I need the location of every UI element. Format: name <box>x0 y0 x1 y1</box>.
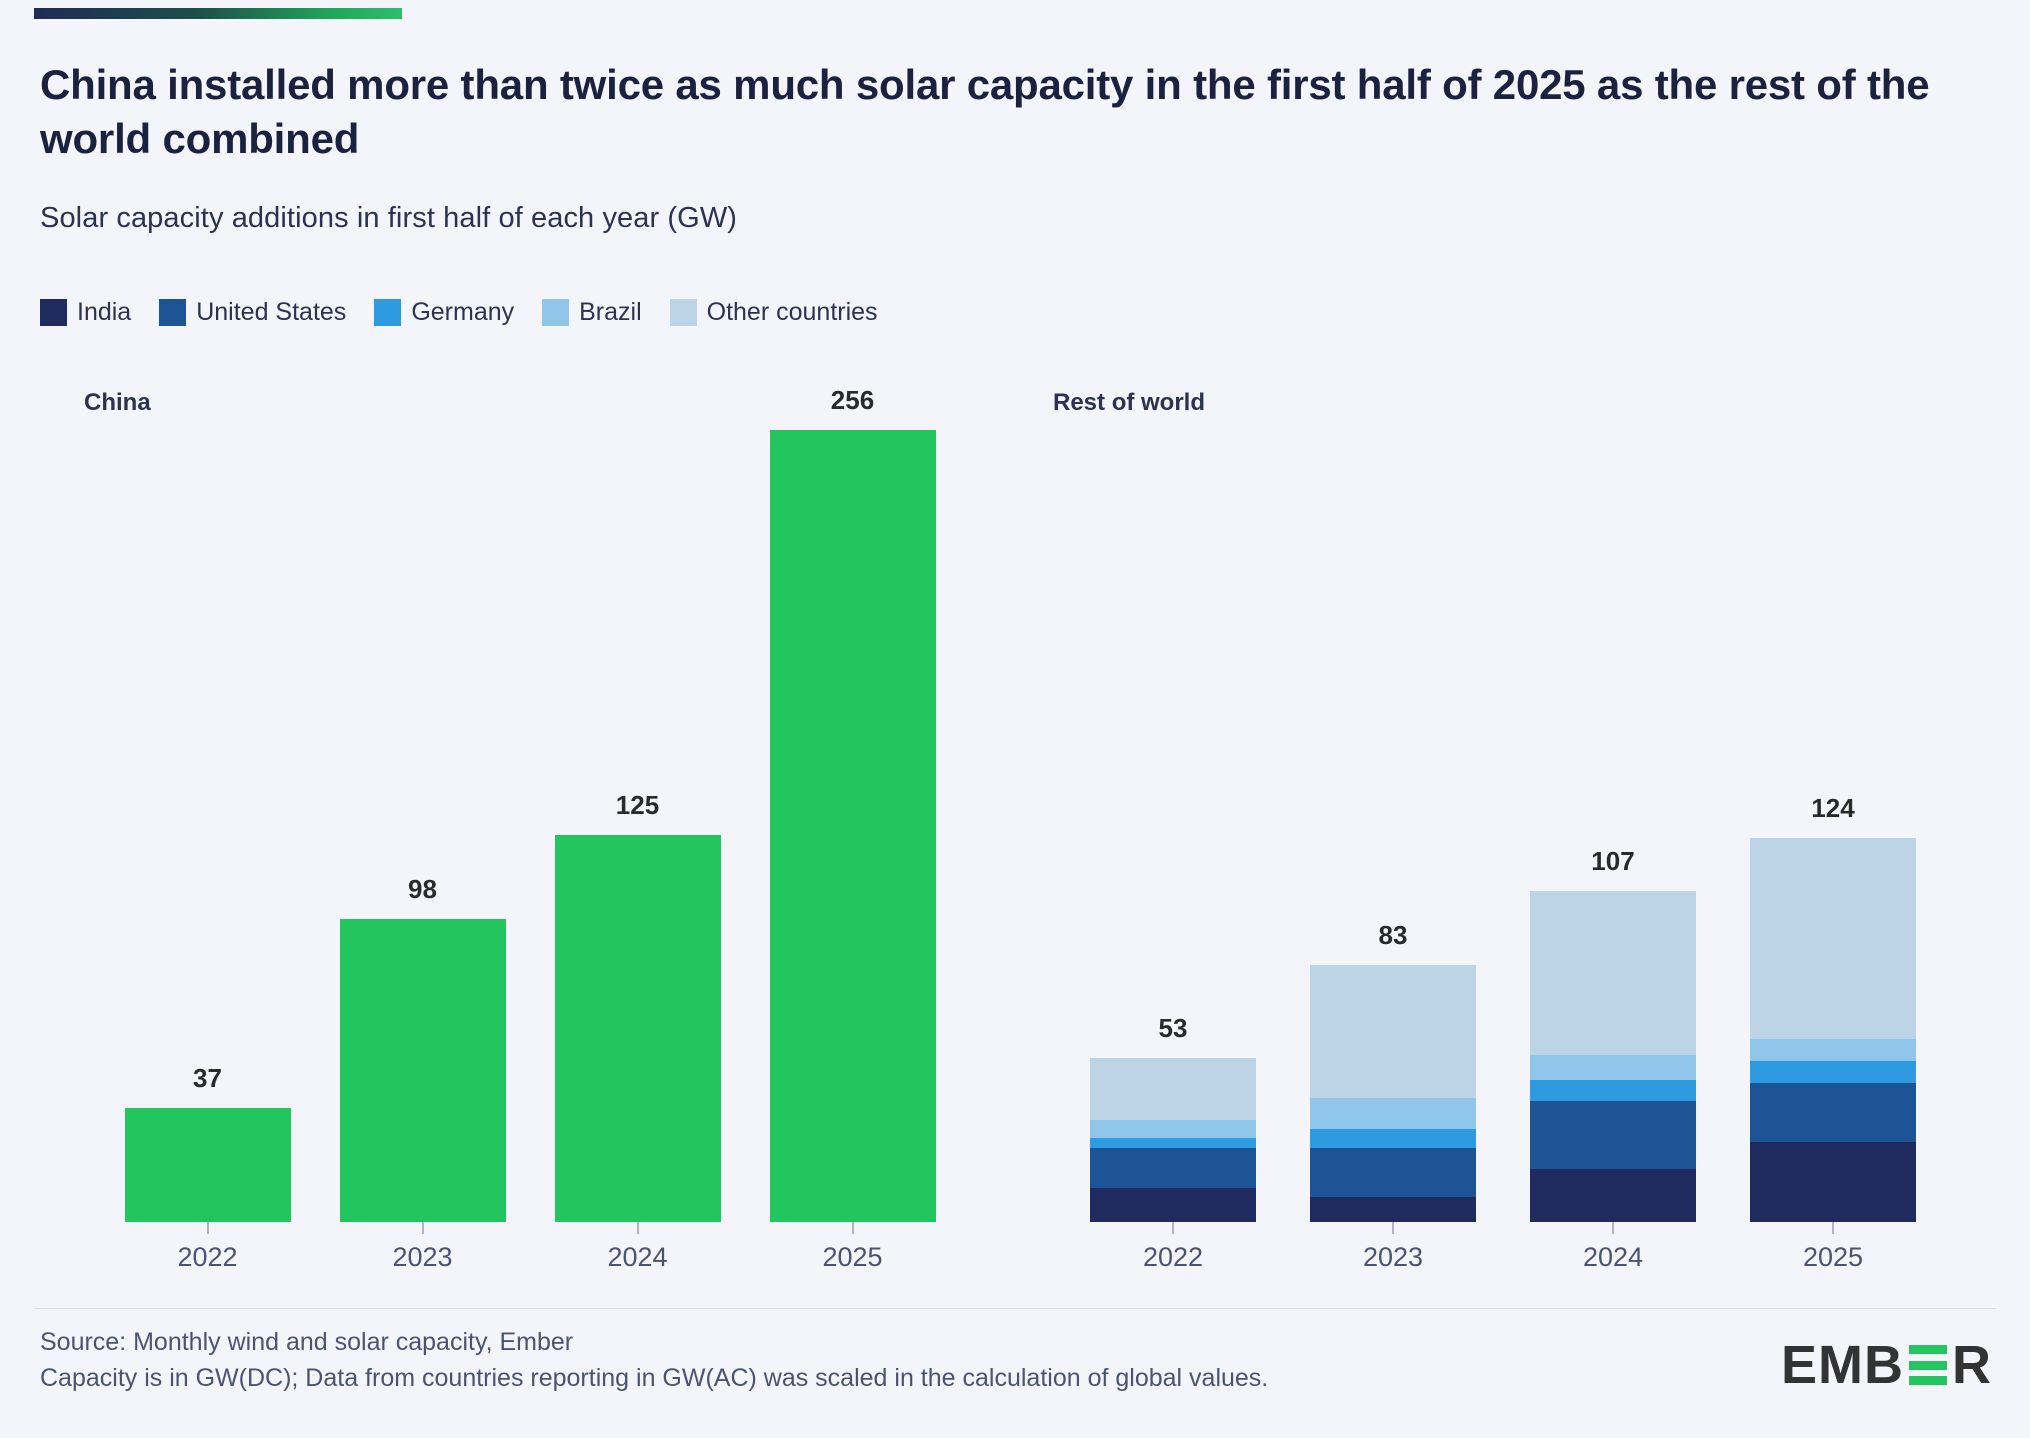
tick-label: 2024 <box>607 1242 667 1273</box>
bar-segment-india[interactable] <box>1750 1142 1916 1222</box>
bar-value-label: 124 <box>1723 793 1943 824</box>
bar-value-label: 125 <box>530 790 745 821</box>
bar-slot: 125 <box>530 430 745 1222</box>
bar-segment-united-states[interactable] <box>1750 1083 1916 1142</box>
tick-label: 2025 <box>822 1242 882 1273</box>
logo-e-icon <box>1909 1345 1947 1385</box>
legend-swatch-icon <box>40 299 67 326</box>
bar-segment-united-states[interactable] <box>1310 1148 1476 1198</box>
chart-plot-china: 3798125256 <box>100 430 960 1222</box>
note-line: Capacity is in GW(DC); Data from countri… <box>40 1361 1268 1397</box>
logo-text-right: R <box>1952 1334 1992 1396</box>
bar-segment-germany[interactable] <box>1750 1061 1916 1083</box>
axis-tick-2024: 2024 <box>530 1222 745 1273</box>
bar-segment-other-countries[interactable] <box>1530 891 1696 1055</box>
brand-accent-bar <box>34 8 402 19</box>
bar-slot: 98 <box>315 430 530 1222</box>
bar-value-label: 37 <box>100 1063 315 1094</box>
bar-segment-china[interactable] <box>770 430 936 1222</box>
bar-2023[interactable] <box>340 919 506 1222</box>
tick-label: 2023 <box>1363 1242 1423 1273</box>
tick-label: 2025 <box>1803 1242 1863 1273</box>
bar-slot: 37 <box>100 430 315 1222</box>
tick-mark <box>852 1222 854 1234</box>
panel-title-china: China <box>84 389 151 417</box>
bar-2025[interactable] <box>770 430 936 1222</box>
chart-plot-rest-of-world: 5383107124 <box>1063 430 1943 1222</box>
axis-tick-2025: 2025 <box>745 1222 960 1273</box>
bar-value-label: 83 <box>1283 920 1503 951</box>
legend-label: Germany <box>411 298 514 327</box>
chart-legend: IndiaUnited StatesGermanyBrazilOther cou… <box>40 298 878 327</box>
bar-segment-germany[interactable] <box>1090 1138 1256 1147</box>
axis-tick-2025: 2025 <box>1723 1222 1943 1273</box>
chart-page: China installed more than twice as much … <box>0 0 2030 1438</box>
bar-slot: 124 <box>1723 430 1943 1222</box>
bar-slot: 53 <box>1063 430 1283 1222</box>
footer-text: Source: Monthly wind and solar capacity,… <box>40 1325 1268 1396</box>
legend-item-other-countries[interactable]: Other countries <box>670 298 878 327</box>
axis-tick-2022: 2022 <box>1063 1222 1283 1273</box>
footer-divider <box>34 1308 1996 1309</box>
bar-group-china: 3798125256 <box>100 430 960 1222</box>
bar-segment-germany[interactable] <box>1530 1080 1696 1102</box>
bar-segment-china[interactable] <box>555 835 721 1222</box>
bar-segment-china[interactable] <box>125 1108 291 1222</box>
legend-item-united-states[interactable]: United States <box>159 298 346 327</box>
legend-label: India <box>77 298 131 327</box>
tick-mark <box>637 1222 639 1234</box>
source-line: Source: Monthly wind and solar capacity,… <box>40 1325 1268 1361</box>
bar-segment-brazil[interactable] <box>1310 1098 1476 1129</box>
bar-segment-india[interactable] <box>1090 1188 1256 1222</box>
bar-segment-united-states[interactable] <box>1090 1148 1256 1188</box>
bar-2024[interactable] <box>555 835 721 1222</box>
bar-segment-india[interactable] <box>1310 1197 1476 1222</box>
bar-2025[interactable] <box>1750 838 1916 1222</box>
legend-swatch-icon <box>374 299 401 326</box>
x-axis-china: 2022202320242025 <box>100 1222 960 1282</box>
legend-label: Other countries <box>707 298 878 327</box>
legend-swatch-icon <box>670 299 697 326</box>
page-subtitle: Solar capacity additions in first half o… <box>40 202 737 235</box>
bar-2024[interactable] <box>1530 891 1696 1222</box>
logo-text-left: EMB <box>1781 1334 1904 1396</box>
bar-2022[interactable] <box>1090 1058 1256 1222</box>
legend-label: Brazil <box>579 298 642 327</box>
bar-segment-india[interactable] <box>1530 1169 1696 1222</box>
bar-slot: 83 <box>1283 430 1503 1222</box>
axis-tick-2022: 2022 <box>100 1222 315 1273</box>
bar-group-rest-of-world: 5383107124 <box>1063 430 1943 1222</box>
bar-2023[interactable] <box>1310 965 1476 1222</box>
bar-value-label: 53 <box>1063 1013 1283 1044</box>
bar-slot: 256 <box>745 430 960 1222</box>
tick-label: 2024 <box>1583 1242 1643 1273</box>
tick-mark <box>1392 1222 1394 1234</box>
legend-item-germany[interactable]: Germany <box>374 298 514 327</box>
legend-label: United States <box>196 298 346 327</box>
bar-value-label: 98 <box>315 874 530 905</box>
bar-segment-china[interactable] <box>340 919 506 1222</box>
tick-mark <box>207 1222 209 1234</box>
bar-slot: 107 <box>1503 430 1723 1222</box>
bar-segment-germany[interactable] <box>1310 1129 1476 1148</box>
tick-mark <box>422 1222 424 1234</box>
panel-title-rest-of-world: Rest of world <box>1053 389 1205 417</box>
tick-label: 2022 <box>177 1242 237 1273</box>
bar-segment-brazil[interactable] <box>1530 1055 1696 1080</box>
bar-2022[interactable] <box>125 1108 291 1222</box>
tick-mark <box>1172 1222 1174 1234</box>
page-title: China installed more than twice as much … <box>40 58 1960 166</box>
bar-segment-brazil[interactable] <box>1750 1039 1916 1061</box>
tick-mark <box>1832 1222 1834 1234</box>
axis-tick-2024: 2024 <box>1503 1222 1723 1273</box>
x-axis-rest-of-world: 2022202320242025 <box>1063 1222 1943 1282</box>
bar-value-label: 107 <box>1503 846 1723 877</box>
axis-tick-2023: 2023 <box>1283 1222 1503 1273</box>
tick-label: 2022 <box>1143 1242 1203 1273</box>
legend-swatch-icon <box>542 299 569 326</box>
bar-value-label: 256 <box>745 385 960 416</box>
tick-mark <box>1612 1222 1614 1234</box>
bar-segment-other-countries[interactable] <box>1750 838 1916 1039</box>
bar-segment-other-countries[interactable] <box>1310 965 1476 1098</box>
axis-tick-2023: 2023 <box>315 1222 530 1273</box>
legend-item-brazil[interactable]: Brazil <box>542 298 642 327</box>
bar-segment-other-countries[interactable] <box>1090 1058 1256 1120</box>
tick-label: 2023 <box>392 1242 452 1273</box>
bar-segment-united-states[interactable] <box>1530 1101 1696 1169</box>
legend-item-india[interactable]: India <box>40 298 131 327</box>
ember-logo: EMB R <box>1781 1337 1992 1393</box>
bar-segment-brazil[interactable] <box>1090 1120 1256 1139</box>
legend-swatch-icon <box>159 299 186 326</box>
